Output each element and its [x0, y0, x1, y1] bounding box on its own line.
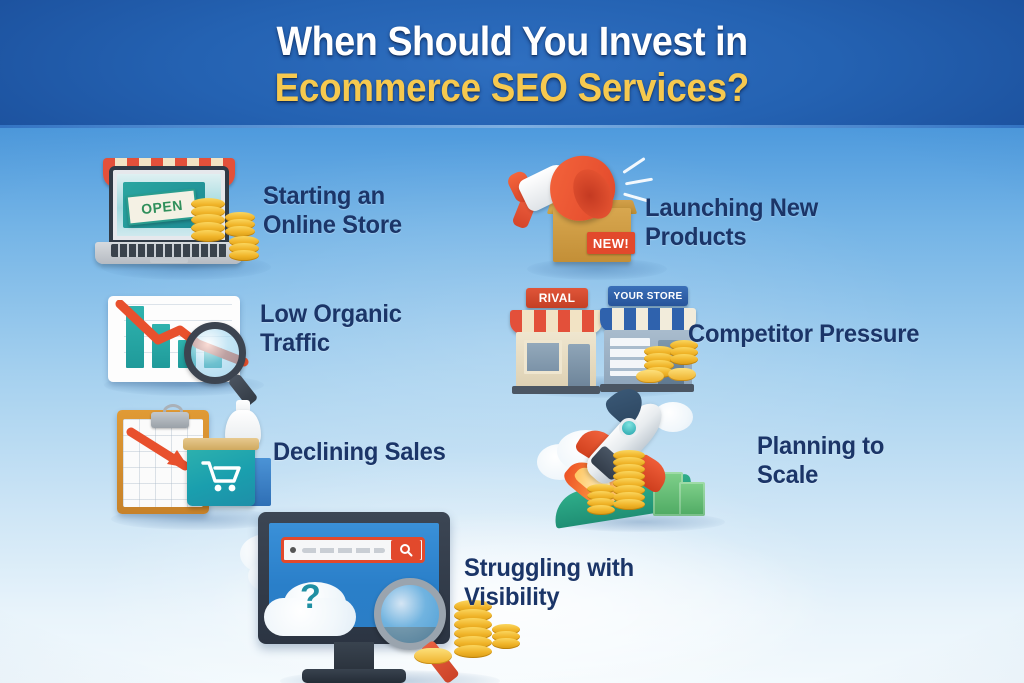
- item-label: Competitor Pressure: [688, 320, 945, 349]
- item-low-organic-traffic[interactable]: Low Organic Traffic: [100, 278, 520, 388]
- rival-storefront: RIVAL: [510, 288, 602, 386]
- search-placeholder-lines: [302, 548, 385, 553]
- item-label: Declining Sales: [273, 438, 511, 467]
- content-stage: OPEN: [0, 128, 1024, 683]
- page-title-line-2: Ecommerce SEO Services?: [275, 66, 749, 110]
- monitor-foot: [302, 669, 406, 683]
- sound-ray: [625, 178, 653, 186]
- item-launching-new-products[interactable]: NEW! Launching New Products: [505, 150, 935, 270]
- open-sign-text: OPEN: [140, 197, 183, 217]
- new-tag: NEW!: [587, 232, 635, 254]
- item-starting-online-store[interactable]: OPEN: [95, 150, 515, 270]
- laptop-trackpad: [150, 258, 188, 263]
- infographic-canvas: When Should You Invest in Ecommerce SEO …: [0, 0, 1024, 683]
- new-tag-text: NEW!: [593, 236, 629, 251]
- item-label: Launching New Products: [645, 194, 921, 252]
- item-label: Planning to Scale: [757, 432, 957, 490]
- item-struggling-with-visibility[interactable]: ?: [240, 506, 760, 683]
- laptop-storefront-icon: OPEN: [95, 150, 265, 270]
- clipboard-clip: [151, 412, 189, 428]
- your-store-awning: [600, 308, 696, 332]
- header-banner: When Should You Invest in Ecommerce SEO …: [0, 0, 1024, 128]
- item-label: Low Organic Traffic: [260, 300, 479, 358]
- item-competitor-pressure[interactable]: RIVAL YOUR STORE: [508, 278, 938, 388]
- your-store-sign-text: YOUR STORE: [614, 291, 683, 302]
- item-declining-sales[interactable]: Declining Sales: [105, 396, 525, 516]
- declining-bar-chart-magnifier-icon: [100, 278, 270, 388]
- rival-sign-text: RIVAL: [539, 291, 576, 305]
- clipboard-down-arrow-shopping-bag-icon: [105, 396, 280, 516]
- title-block: When Should You Invest in Ecommerce SEO …: [0, 0, 1024, 128]
- rival-door: [568, 344, 590, 388]
- rival-sign: RIVAL: [526, 288, 588, 308]
- search-bar[interactable]: [281, 537, 425, 563]
- your-store-sign: YOUR STORE: [608, 286, 688, 306]
- search-cursor: [290, 547, 296, 553]
- megaphone-box-icon: NEW!: [505, 150, 655, 270]
- item-label: Struggling with Visibility: [464, 554, 730, 612]
- magnifier-lens: [374, 578, 446, 650]
- rival-window: [524, 340, 562, 374]
- search-icon: [399, 543, 413, 557]
- shopping-bag-lid: [183, 438, 259, 450]
- two-storefronts-coins-icon: RIVAL YOUR STORE: [508, 278, 698, 388]
- rival-awning: [510, 310, 602, 334]
- laptop-keyboard: [111, 244, 227, 257]
- sound-ray: [622, 157, 645, 174]
- page-title-line-1: When Should You Invest in: [276, 18, 747, 64]
- search-button[interactable]: [391, 540, 421, 560]
- item-label: Starting an Online Store: [263, 182, 482, 240]
- question-mark: ?: [300, 578, 321, 617]
- shopping-cart-icon: [201, 460, 243, 494]
- monitor-stand: [334, 642, 374, 672]
